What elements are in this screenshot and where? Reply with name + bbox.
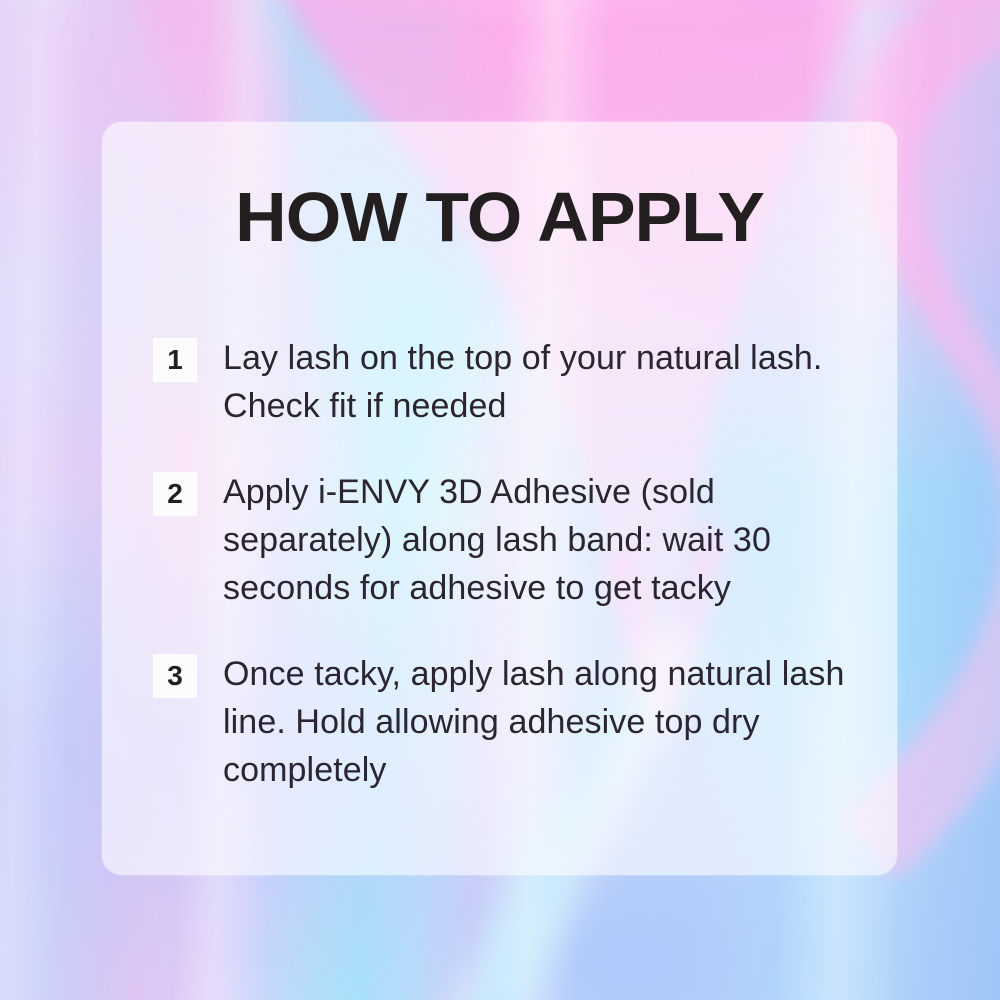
step-number-badge: 3 bbox=[153, 654, 197, 698]
list-item: 1 Lay lash on the top of your natural la… bbox=[153, 334, 879, 430]
step-instruction-text: Once tacky, apply lash along natural las… bbox=[223, 650, 879, 794]
instruction-card: HOW TO APPLY 1 Lay lash on the top of yo… bbox=[102, 122, 897, 875]
steps-list: 1 Lay lash on the top of your natural la… bbox=[153, 334, 879, 794]
step-number-badge: 1 bbox=[153, 338, 197, 382]
step-number-badge: 2 bbox=[153, 472, 197, 516]
page-title: HOW TO APPLY bbox=[94, 182, 905, 252]
step-instruction-text: Apply i-ENVY 3D Adhesive (sold separatel… bbox=[223, 468, 823, 612]
list-item: 3 Once tacky, apply lash along natural l… bbox=[153, 650, 879, 794]
graphic-canvas: HOW TO APPLY 1 Lay lash on the top of yo… bbox=[0, 0, 1000, 1000]
list-item: 2 Apply i-ENVY 3D Adhesive (sold separat… bbox=[153, 468, 879, 612]
step-instruction-text: Lay lash on the top of your natural lash… bbox=[223, 334, 878, 430]
